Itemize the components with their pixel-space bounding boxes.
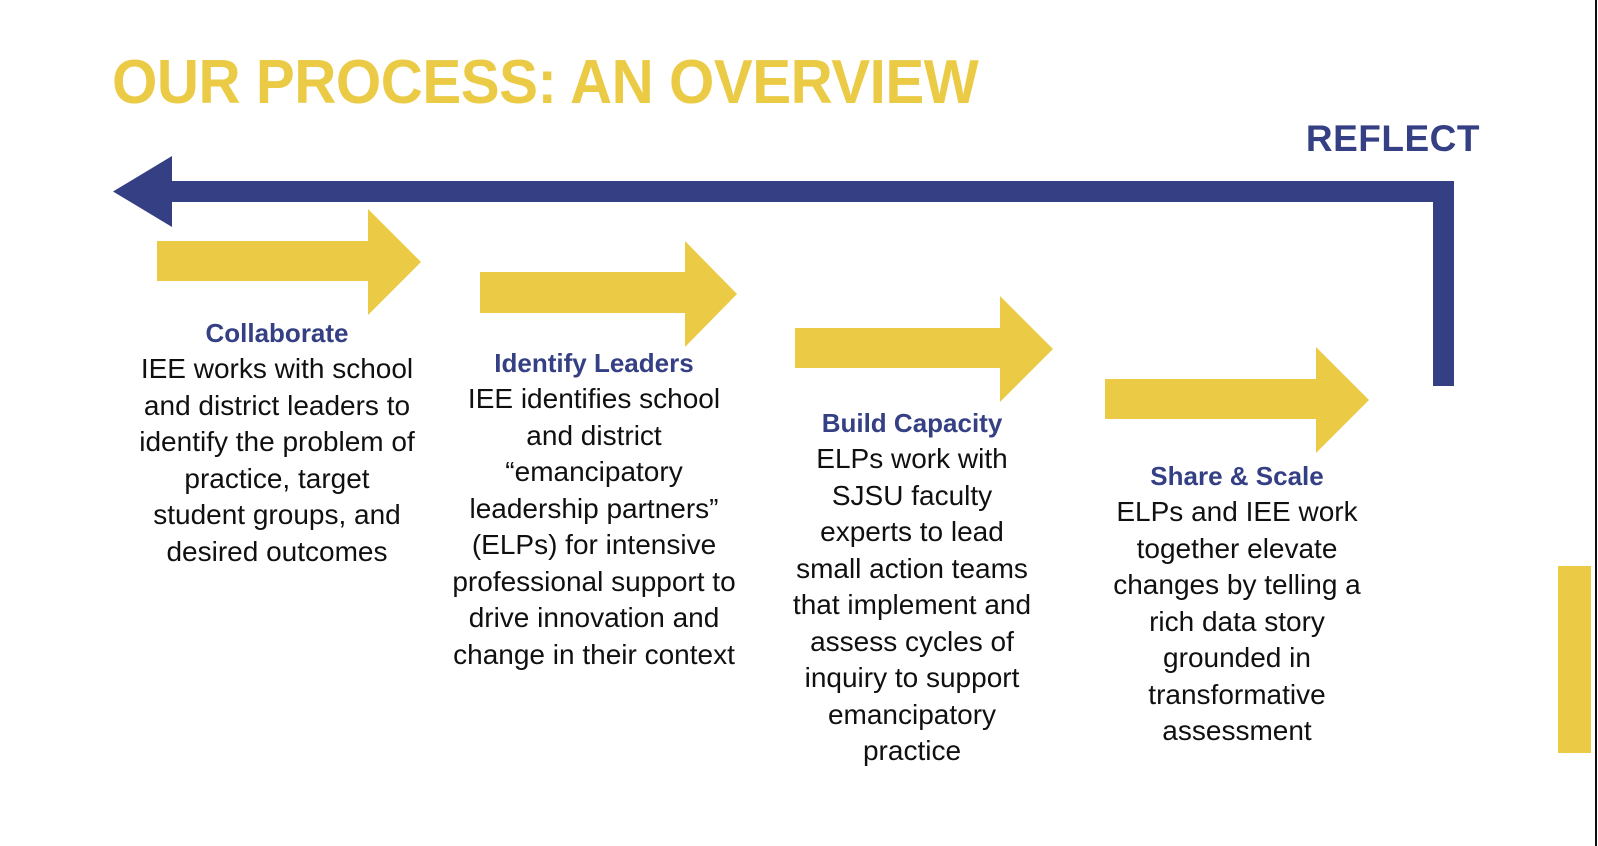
process-step-build-capacity: Build Capacity ELPs work with SJSU facul…: [786, 406, 1038, 770]
step-heading: Collaborate: [138, 316, 416, 350]
page-title: OUR PROCESS: AN OVERVIEW: [112, 44, 978, 122]
process-step-identify-leaders: Identify Leaders IEE identifies school a…: [452, 346, 736, 673]
step-heading: Identify Leaders: [452, 346, 736, 380]
reflect-label: REFLECT: [1306, 117, 1480, 161]
step-arrow-3: [795, 296, 1053, 402]
step-heading: Build Capacity: [786, 406, 1038, 440]
step-body: ELPs and IEE work together elevate chang…: [1104, 494, 1370, 750]
step-body: ELPs work with SJSU faculty experts to l…: [786, 441, 1038, 770]
step-body: IEE identifies school and district “eman…: [452, 381, 736, 673]
process-step-collaborate: Collaborate IEE works with school and di…: [138, 316, 416, 570]
right-edge-accent-bar: [1558, 566, 1591, 753]
step-heading: Share & Scale: [1104, 459, 1370, 493]
step-arrow-4: [1105, 347, 1369, 453]
step-body: IEE works with school and district leade…: [138, 351, 416, 570]
right-edge-rule: [1595, 0, 1597, 846]
step-arrow-2: [480, 241, 737, 347]
step-arrow-1: [157, 209, 421, 315]
slide-canvas: OUR PROCESS: AN OVERVIEW REFLECT: [0, 0, 1598, 846]
process-step-share-and-scale: Share & Scale ELPs and IEE work together…: [1104, 459, 1370, 750]
